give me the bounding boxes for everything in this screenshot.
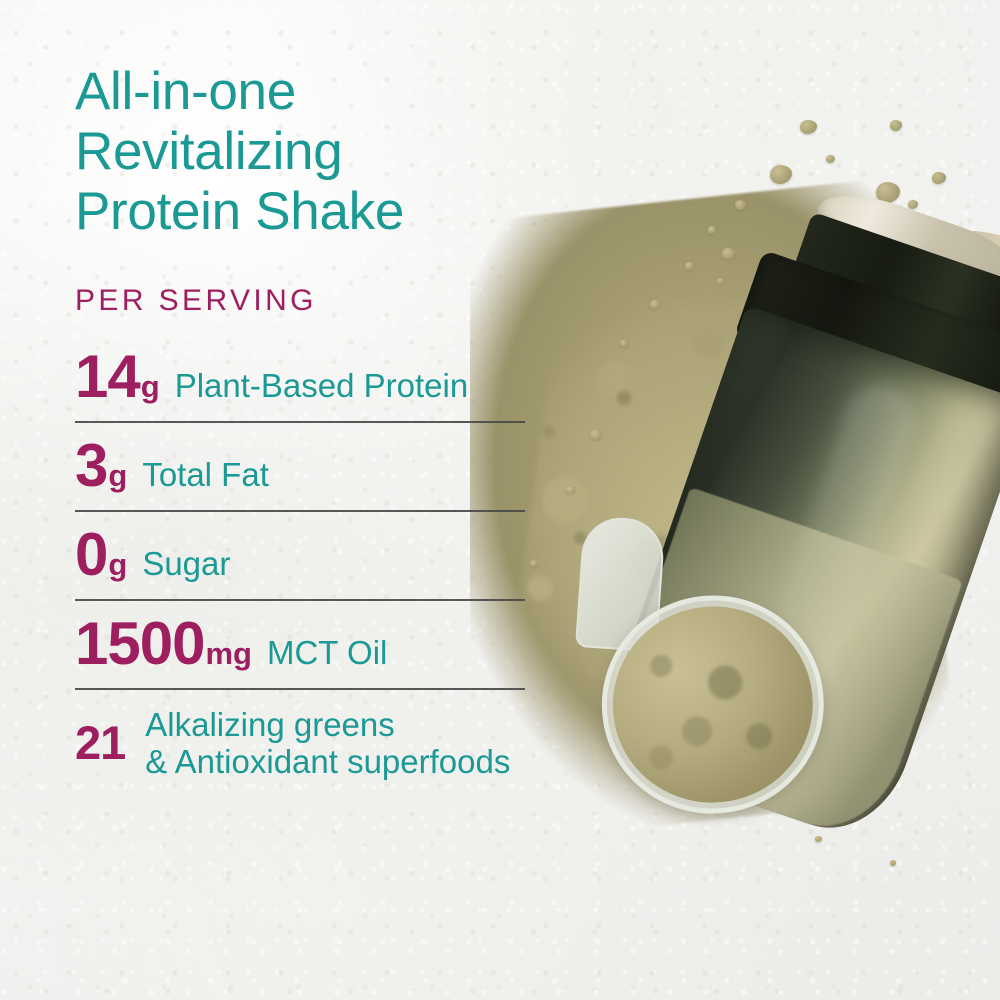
nutrition-label: Total Fat xyxy=(142,457,269,493)
measuring-scoop xyxy=(551,486,849,825)
nutrition-value: 21 xyxy=(75,719,125,766)
nutrition-unit: g xyxy=(108,549,127,580)
nutrition-row-sugar: 0 g Sugar xyxy=(75,512,525,599)
powder-crumb xyxy=(932,172,946,184)
nutrition-label: Plant-Based Protein xyxy=(175,368,469,404)
row-divider xyxy=(75,510,525,512)
nutrition-label: Alkalizing greens & Antioxidant superfoo… xyxy=(145,706,510,781)
row-divider xyxy=(75,599,525,601)
nutrition-unit: g xyxy=(141,371,160,402)
powder-crumb xyxy=(800,120,817,134)
page-title: All-in-one Revitalizing Protein Shake xyxy=(75,62,545,242)
powder-crumb xyxy=(890,120,902,131)
nutrition-value: 0 xyxy=(75,525,107,585)
per-serving-label: PER SERVING xyxy=(75,284,545,318)
nutrition-row-mct-oil: 1500 mg MCT Oil xyxy=(75,601,525,688)
nutrition-label: MCT Oil xyxy=(267,635,387,671)
nutrition-value: 1500 xyxy=(75,614,204,674)
nutrition-row-greens-superfoods: 21 Alkalizing greens & Antioxidant super… xyxy=(75,690,525,795)
info-panel: All-in-one Revitalizing Protein Shake PE… xyxy=(75,62,545,794)
product-infographic: All-in-one Revitalizing Protein Shake PE… xyxy=(0,0,1000,1000)
nutrition-unit: g xyxy=(108,460,127,491)
row-divider xyxy=(75,688,525,690)
powder-crumb xyxy=(826,155,835,163)
nutrition-label: Sugar xyxy=(142,546,230,582)
row-divider xyxy=(75,421,525,423)
product-photo xyxy=(470,0,1000,1000)
nutrition-unit: mg xyxy=(205,638,252,669)
nutrition-row-protein: 14 g Plant-Based Protein xyxy=(75,334,525,421)
nutrition-value: 14 xyxy=(75,347,140,407)
nutrition-value: 3 xyxy=(75,436,107,496)
nutrition-list: 14 g Plant-Based Protein 3 g Total Fat 0… xyxy=(75,334,525,795)
nutrition-row-total-fat: 3 g Total Fat xyxy=(75,423,525,510)
